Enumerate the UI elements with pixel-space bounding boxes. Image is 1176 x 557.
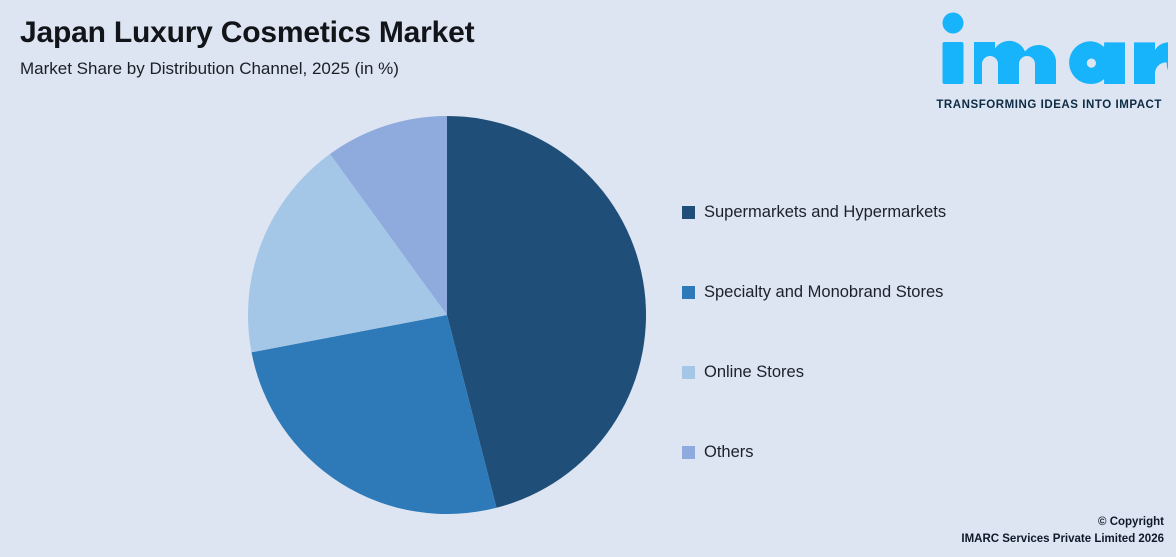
page-subtitle: Market Share by Distribution Channel, 20… <box>20 59 399 79</box>
logo-wordmark <box>922 12 1168 80</box>
pie-chart <box>248 116 646 514</box>
legend-item[interactable]: Specialty and Monobrand Stores <box>682 252 1152 332</box>
legend-item-label: Online Stores <box>704 364 804 381</box>
copyright-line-2: IMARC Services Private Limited 2026 <box>961 531 1164 548</box>
pie-chart-svg <box>248 116 646 514</box>
page-title: Japan Luxury Cosmetics Market <box>20 16 474 50</box>
copyright-line-1: © Copyright <box>961 514 1164 531</box>
imarc-logo: TRANSFORMING IDEAS INTO IMPACT <box>922 12 1168 108</box>
legend-item-label: Others <box>704 444 754 461</box>
chart-page: Japan Luxury Cosmetics Market Market Sha… <box>0 0 1176 557</box>
legend-item[interactable]: Others <box>682 412 1152 492</box>
legend-swatch-icon <box>682 446 695 459</box>
legend-swatch-icon <box>682 286 695 299</box>
chart-legend: Supermarkets and HypermarketsSpecialty a… <box>682 172 1152 492</box>
legend-swatch-icon <box>682 206 695 219</box>
legend-item[interactable]: Supermarkets and Hypermarkets <box>682 172 1152 252</box>
legend-item[interactable]: Online Stores <box>682 332 1152 412</box>
legend-swatch-icon <box>682 366 695 379</box>
copyright-footer: © Copyright IMARC Services Private Limit… <box>961 514 1164 549</box>
logo-tagline: TRANSFORMING IDEAS INTO IMPACT <box>936 99 1162 111</box>
legend-item-label: Supermarkets and Hypermarkets <box>704 204 946 221</box>
legend-item-label: Specialty and Monobrand Stores <box>704 284 943 301</box>
imarc-logo-icon <box>922 12 1168 84</box>
